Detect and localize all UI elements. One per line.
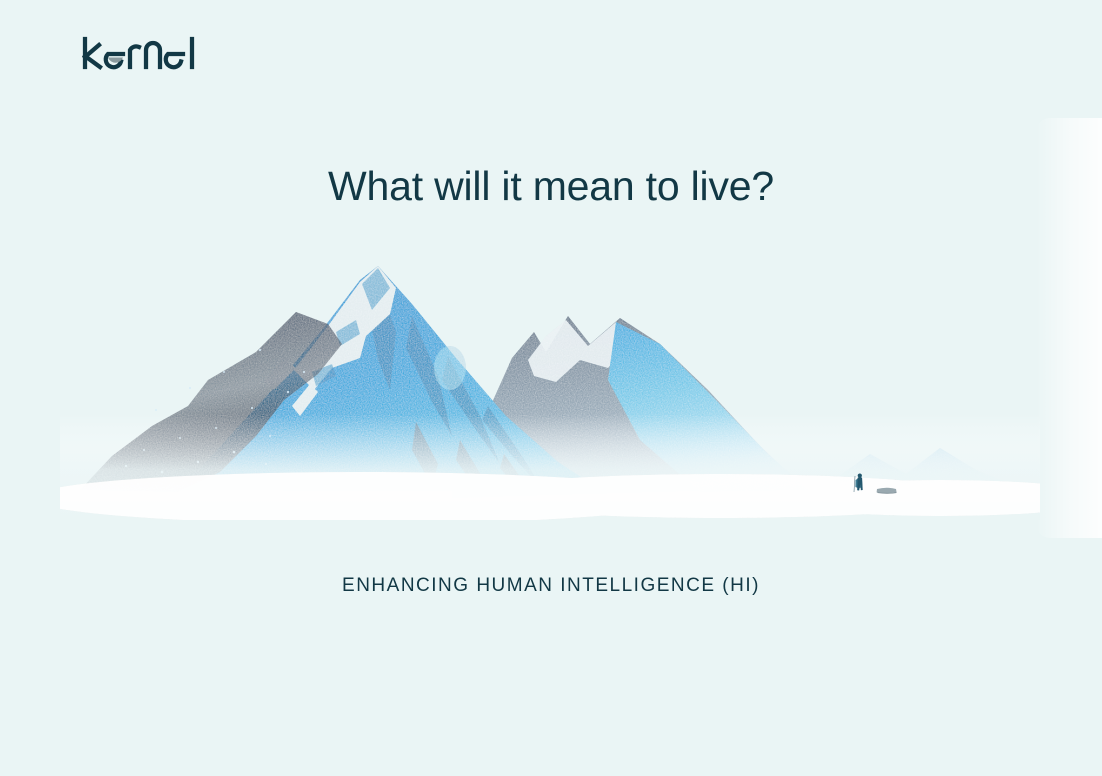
mountain-illustration (60, 240, 1040, 520)
sled-object (877, 488, 897, 494)
mountain-artwork-icon (60, 240, 1040, 520)
hero-tagline: ENHANCING HUMAN INTELLIGENCE (HI) (0, 575, 1102, 597)
page-title: What will it mean to live? (0, 163, 1102, 210)
hero-section: What will it mean to live? (0, 0, 1102, 776)
